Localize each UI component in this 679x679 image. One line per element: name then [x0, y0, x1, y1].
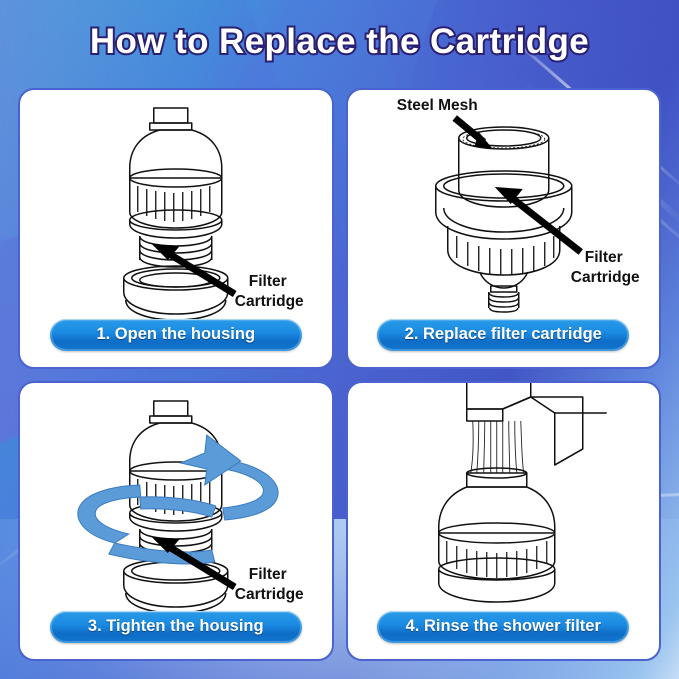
pointer-arrow: [494, 187, 580, 252]
step-4-illustration: [348, 383, 660, 621]
step-1-illustration: Filter Cartridge: [20, 90, 332, 328]
step-card-4: 4. Rinse the shower filter: [346, 381, 662, 662]
steps-grid: Filter Cartridge 1. Open the housing: [18, 88, 661, 661]
filter-cartridge-label-line1: Filter: [249, 566, 287, 583]
step-card-1: Filter Cartridge 1. Open the housing: [18, 88, 334, 369]
step-1-caption: 1. Open the housing: [50, 319, 302, 351]
step-2-caption: 2. Replace filter cartridge: [377, 319, 629, 351]
step-3-caption: 3. Tighten the housing: [50, 611, 302, 643]
step-4-caption: 4. Rinse the shower filter: [377, 611, 629, 643]
step-card-2: Steel Mesh Filter Cartridge 2. Replace f…: [346, 88, 662, 369]
step-card-3: Filter Cartridge 3. Tighten the housing: [18, 381, 334, 662]
filter-cartridge-label-line2: Cartridge: [235, 293, 304, 310]
steel-mesh-arrow: [454, 118, 492, 149]
steel-mesh-label: Steel Mesh: [396, 97, 477, 114]
filter-cartridge-label-line1: Filter: [249, 273, 287, 290]
step-2-illustration: Steel Mesh Filter Cartridge: [348, 90, 660, 328]
filter-cartridge-label-line2: Cartridge: [235, 586, 304, 603]
step-3-illustration: Filter Cartridge: [20, 383, 332, 621]
page-title: How to Replace the Cartridge: [0, 22, 679, 62]
filter-cartridge-label-line2: Cartridge: [570, 269, 639, 286]
infographic-poster: How to Replace the Cartridge: [0, 0, 679, 679]
filter-cartridge-label-line1: Filter: [584, 249, 622, 266]
